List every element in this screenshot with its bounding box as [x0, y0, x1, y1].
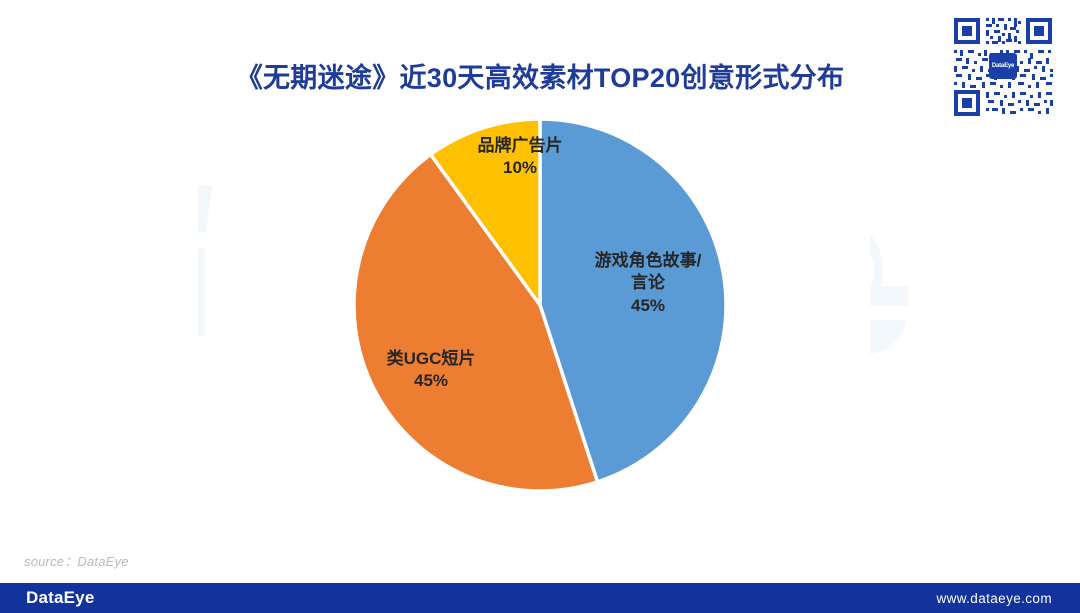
- qr-center-logo-label: DataEye: [989, 53, 1017, 79]
- footer-website-url[interactable]: www.dataeye.com: [936, 583, 1052, 613]
- watermark-left-decoration: [168, 186, 238, 336]
- page-title: 《无期迷途》近30天高效素材TOP20创意形式分布: [0, 56, 1080, 95]
- footer-logo-text: DataEye: [26, 588, 95, 608]
- footer-bar: DataEye www.dataeye.com: [0, 583, 1080, 613]
- qr-code[interactable]: DataEye: [948, 10, 1058, 122]
- chart-canvas: 《无期迷途》近30天高效素材TOP20创意形式分布: [0, 0, 1080, 613]
- footer-logo: DataEye: [26, 583, 95, 613]
- pie-chart: [352, 117, 728, 493]
- watermark-right-decoration: [870, 232, 960, 372]
- pie-chart-svg: [352, 117, 728, 493]
- source-note: source：DataEye: [24, 551, 129, 570]
